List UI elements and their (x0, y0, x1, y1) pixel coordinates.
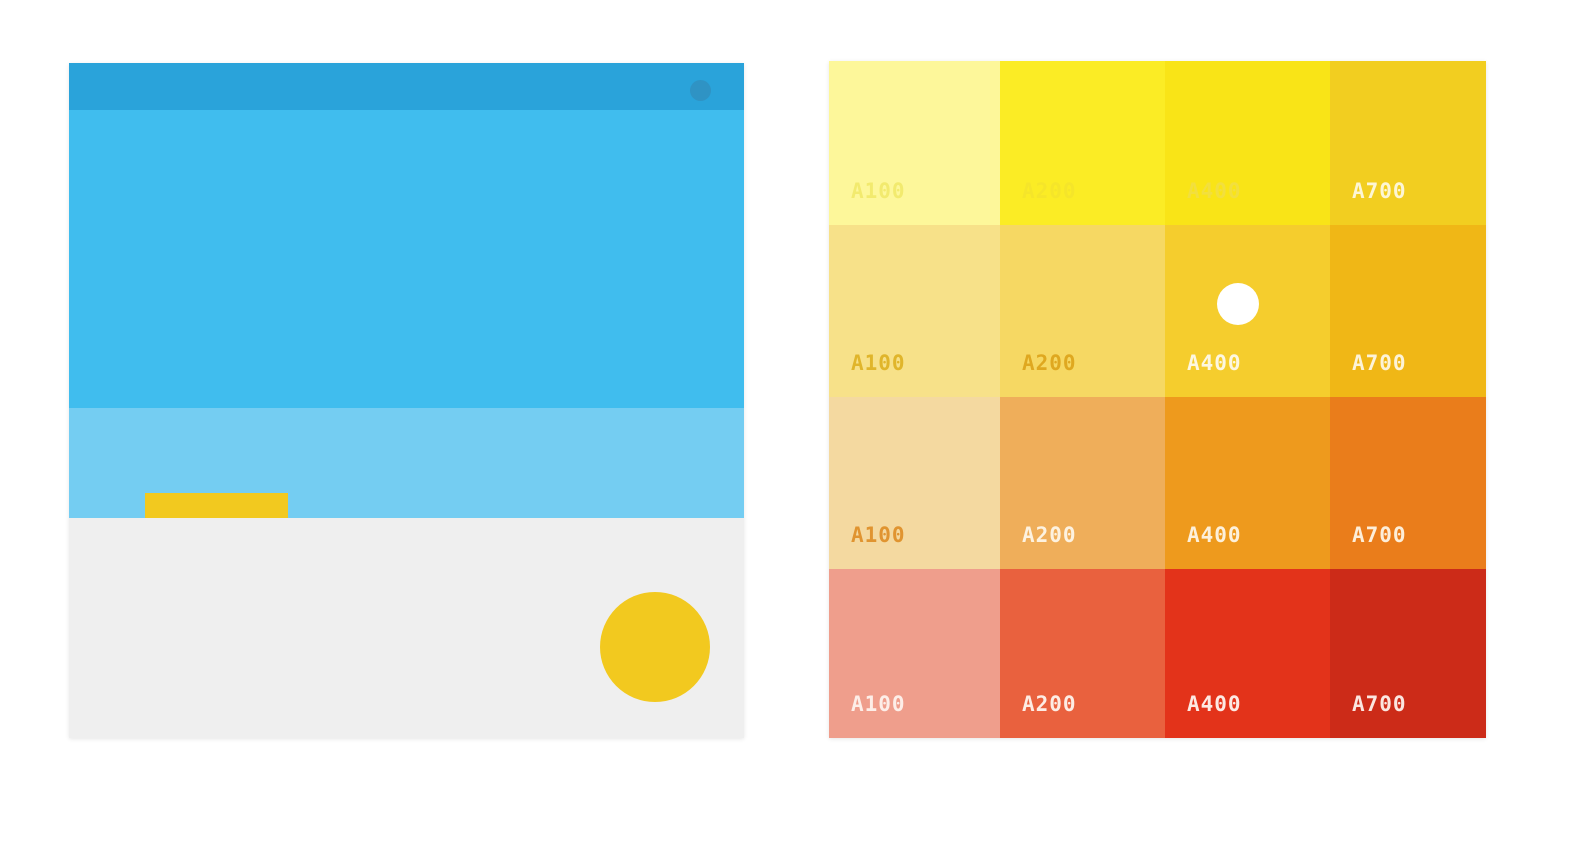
swatch-label: A400 (1187, 179, 1242, 203)
color-swatch[interactable]: A200 (1000, 397, 1165, 569)
color-swatch[interactable]: A700 (1330, 569, 1486, 738)
color-swatch[interactable]: A700 (1330, 61, 1486, 225)
swatch-label: A400 (1187, 351, 1242, 375)
color-swatch[interactable]: A200 (1000, 225, 1165, 397)
color-swatch[interactable]: A100 (829, 397, 1000, 569)
swatch-label: A100 (851, 179, 906, 203)
color-swatch[interactable]: A200 (1000, 61, 1165, 225)
color-swatch[interactable]: A100 (829, 61, 1000, 225)
swatch-label: A200 (1022, 351, 1077, 375)
accent-color-grid: A100 A200 A400 A700 A100 A200 A400 A700 … (829, 61, 1486, 738)
color-swatch[interactable]: A100 (829, 225, 1000, 397)
selection-indicator-icon (1217, 283, 1259, 325)
floating-action-button[interactable] (600, 592, 710, 702)
swatch-label: A700 (1352, 179, 1407, 203)
appbar-action-icon[interactable] (690, 80, 711, 101)
app-bar (69, 63, 744, 110)
swatch-label: A700 (1352, 692, 1407, 716)
color-swatch-selected[interactable]: A400 (1165, 225, 1330, 397)
accent-color-bar (145, 493, 288, 519)
swatch-label: A400 (1187, 692, 1242, 716)
swatch-label: A700 (1352, 351, 1407, 375)
color-swatch[interactable]: A400 (1165, 569, 1330, 738)
swatch-label: A200 (1022, 692, 1077, 716)
primary-color-block (69, 110, 744, 408)
color-swatch[interactable]: A700 (1330, 397, 1486, 569)
color-swatch[interactable]: A700 (1330, 225, 1486, 397)
app-preview-card (69, 63, 744, 738)
swatch-label: A200 (1022, 179, 1077, 203)
swatch-label: A100 (851, 351, 906, 375)
color-swatch[interactable]: A200 (1000, 569, 1165, 738)
swatch-label: A100 (851, 523, 906, 547)
swatch-label: A400 (1187, 523, 1242, 547)
color-swatch[interactable]: A100 (829, 569, 1000, 738)
color-swatch[interactable]: A400 (1165, 61, 1330, 225)
swatch-label: A100 (851, 692, 906, 716)
swatch-label: A200 (1022, 523, 1077, 547)
color-swatch[interactable]: A400 (1165, 397, 1330, 569)
swatch-label: A700 (1352, 523, 1407, 547)
